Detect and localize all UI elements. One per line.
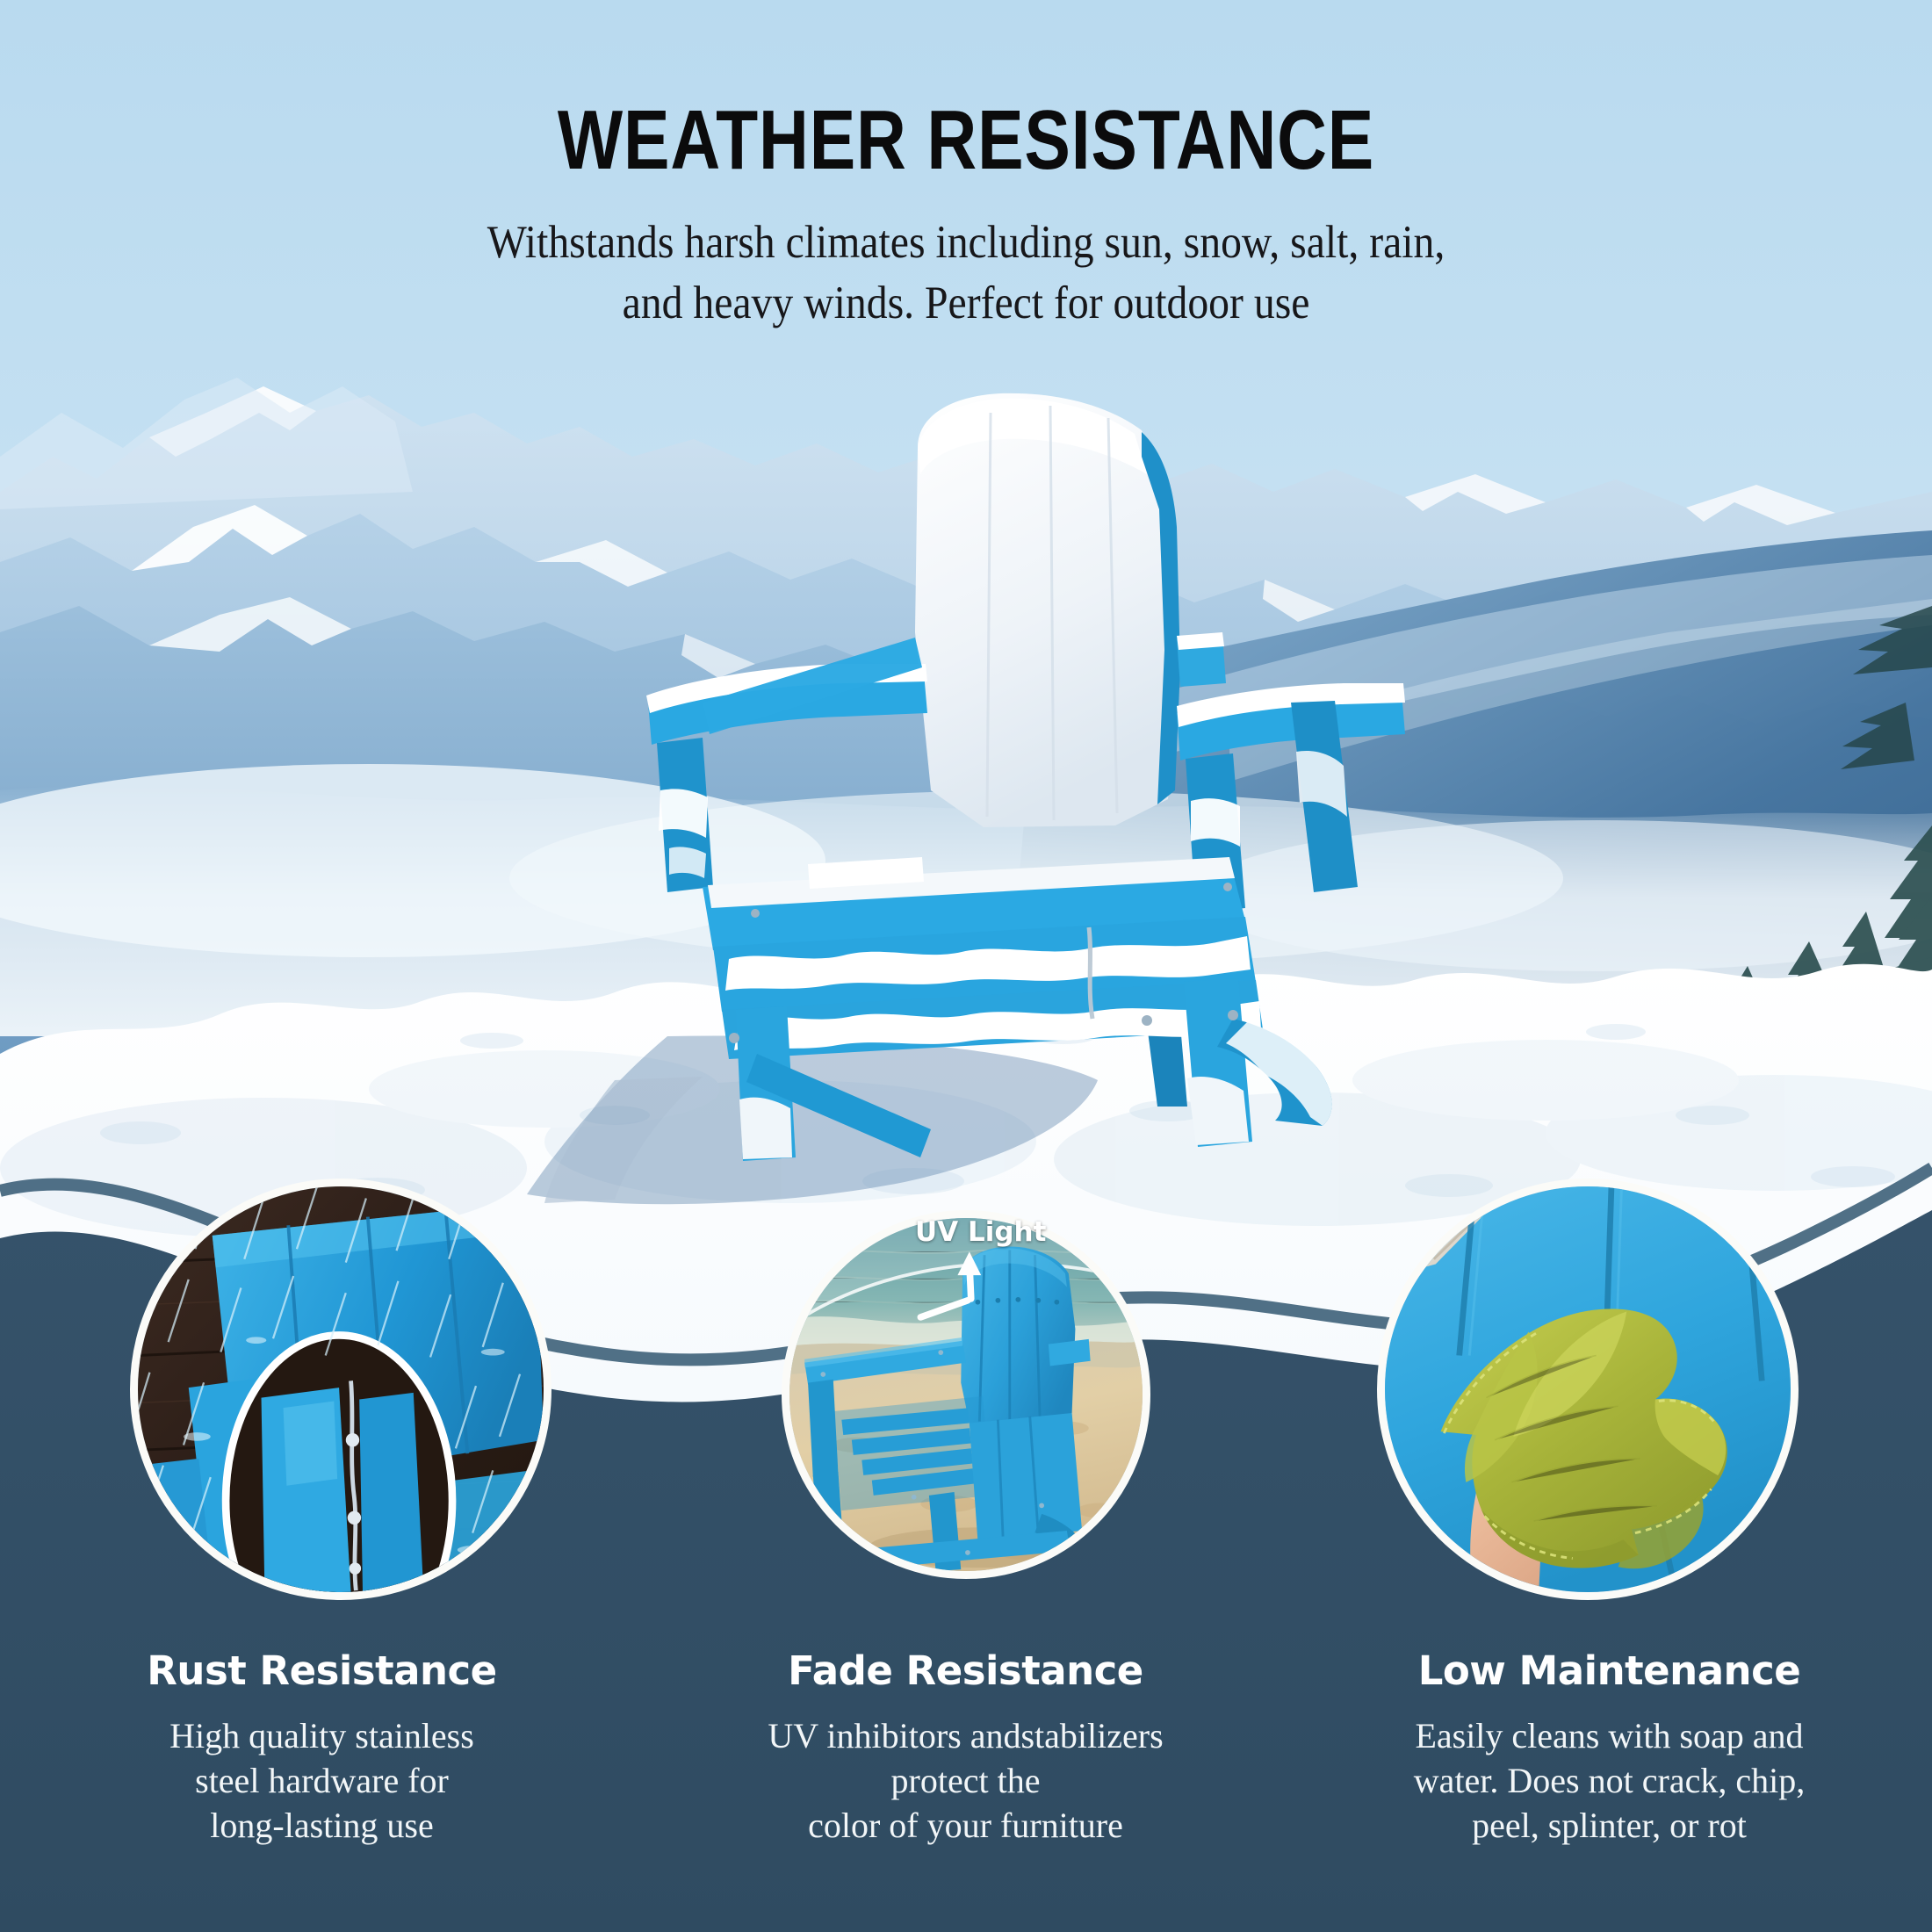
feature-image-fade-resistance[interactable]	[782, 1210, 1150, 1579]
uv-light-label: UV Light	[915, 1216, 1046, 1248]
caption-low-maintenance: Low Maintenance Easily cleans with soap …	[1287, 1651, 1931, 1849]
feature-image-low-maintenance[interactable]	[1377, 1179, 1799, 1600]
caption-line: peel, splinter, or rot	[1472, 1806, 1747, 1845]
caption-heading-rust-resistance: Rust Resistance	[23, 1651, 621, 1690]
feature-image-rust-resistance[interactable]	[130, 1179, 551, 1600]
caption-line: Easily cleans with soap and	[1415, 1716, 1803, 1755]
caption-heading-fade-resistance: Fade Resistance	[667, 1651, 1265, 1690]
caption-body-fade-resistance: UV inhibitors andstabilizers protect the…	[667, 1713, 1265, 1849]
caption-rust-resistance: Rust Resistance High quality stainless s…	[0, 1651, 644, 1849]
caption-body-rust-resistance: High quality stainless steel hardware fo…	[23, 1713, 621, 1849]
caption-line: High quality stainless	[169, 1716, 474, 1755]
subtitle-line-1: Withstands harsh climates including sun,…	[97, 213, 1835, 273]
page-title: WEATHER RESISTANCE	[174, 98, 1758, 183]
caption-line: long-lasting use	[210, 1806, 433, 1845]
caption-line: water. Does not crack, chip,	[1414, 1761, 1805, 1800]
subtitle-line-2: and heavy winds. Perfect for outdoor use	[97, 273, 1835, 334]
header-block: WEATHER RESISTANCE Withstands harsh clim…	[0, 0, 1932, 334]
caption-line: UV inhibitors andstabilizers	[768, 1716, 1163, 1755]
caption-heading-low-maintenance: Low Maintenance	[1310, 1651, 1908, 1690]
caption-fade-resistance: Fade Resistance UV inhibitors andstabili…	[644, 1651, 1287, 1849]
caption-body-low-maintenance: Easily cleans with soap and water. Does …	[1310, 1713, 1908, 1849]
page-subtitle: Withstands harsh climates including sun,…	[97, 213, 1835, 334]
caption-line: steel hardware for	[195, 1761, 449, 1800]
caption-line: color of your furniture	[808, 1806, 1123, 1845]
infographic-canvas: WEATHER RESISTANCE Withstands harsh clim…	[0, 0, 1932, 1932]
feature-captions: Rust Resistance High quality stainless s…	[0, 1651, 1932, 1849]
caption-line: protect the	[891, 1761, 1041, 1800]
